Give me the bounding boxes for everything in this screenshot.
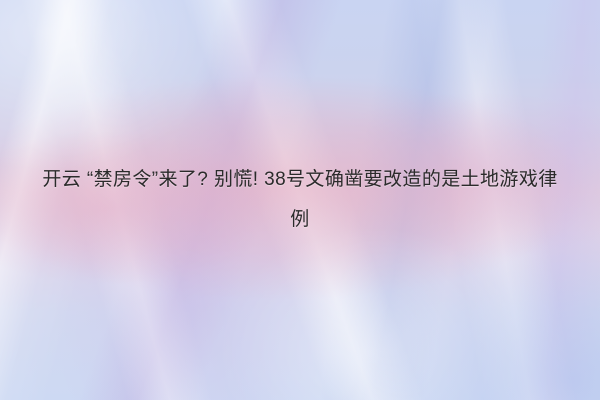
headline-block: 开云 “禁房令”来了? 别慌! 38号文确凿要改造的是土地游戏律例 — [0, 0, 600, 400]
headline-text: 开云 “禁房令”来了? 别慌! 38号文确凿要改造的是土地游戏律例 — [34, 160, 566, 240]
article-banner-image: 开云 “禁房令”来了? 别慌! 38号文确凿要改造的是土地游戏律例 — [0, 0, 600, 400]
